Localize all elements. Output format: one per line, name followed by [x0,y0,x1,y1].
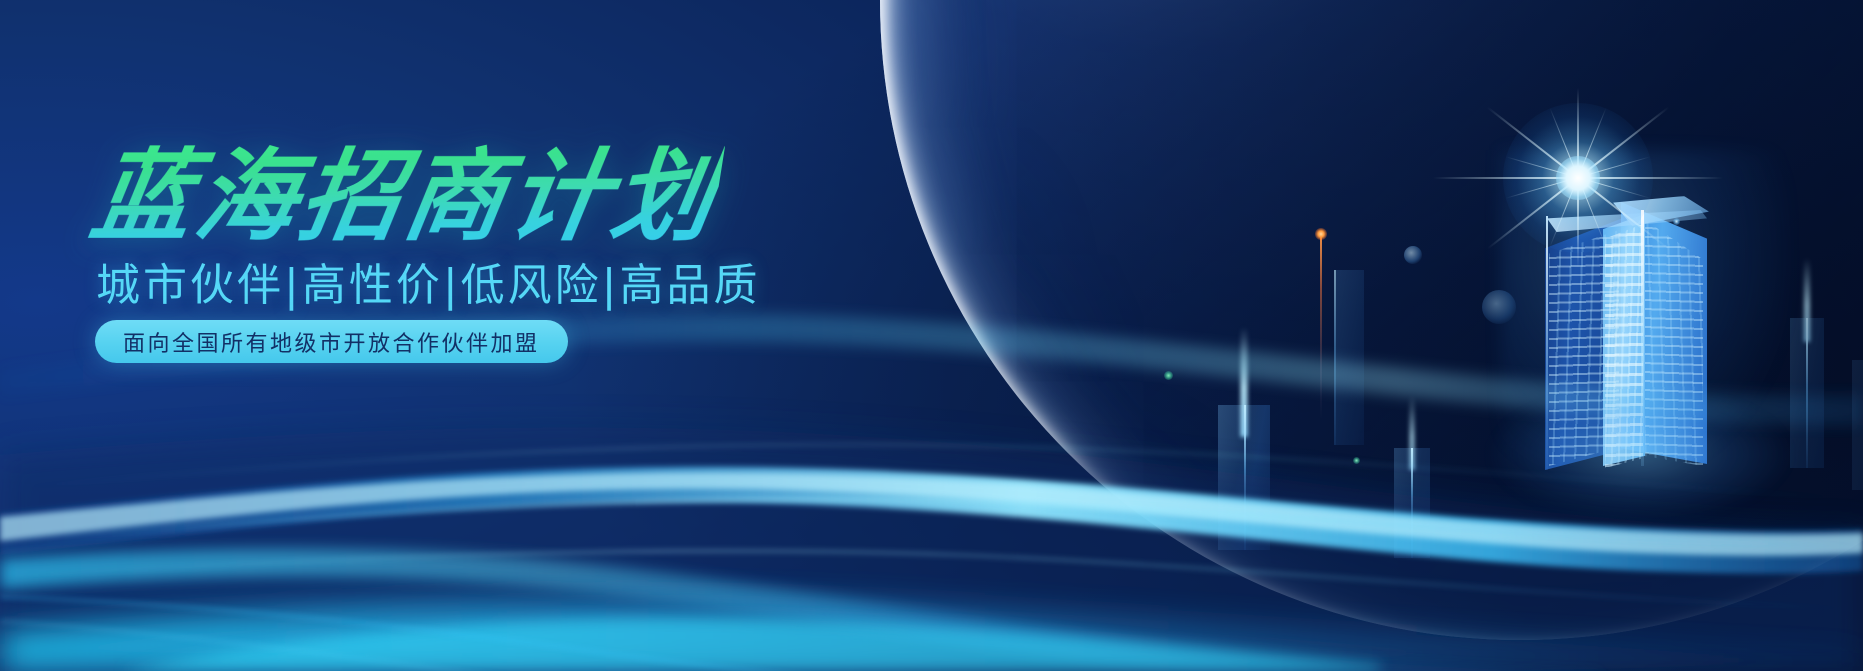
cta-pill-button[interactable]: 面向全国所有地级市开放合作伙伴加盟 [95,320,568,363]
cta-pill-label: 面向全国所有地级市开放合作伙伴加盟 [123,326,540,358]
antenna-light-icon [1315,228,1327,240]
promo-banner: 蓝海招商计划 城市伙伴|高性价|低风险|高品质 面向全国所有地级市开放合作伙伴加… [0,0,1863,671]
headline-block: 蓝海招商计划 城市伙伴|高性价|低风险|高品质 面向全国所有地级市开放合作伙伴加… [0,0,980,671]
page-title: 蓝海招商计划 [85,144,726,250]
subtitle: 城市伙伴|高性价|低风险|高品质 [96,262,760,310]
